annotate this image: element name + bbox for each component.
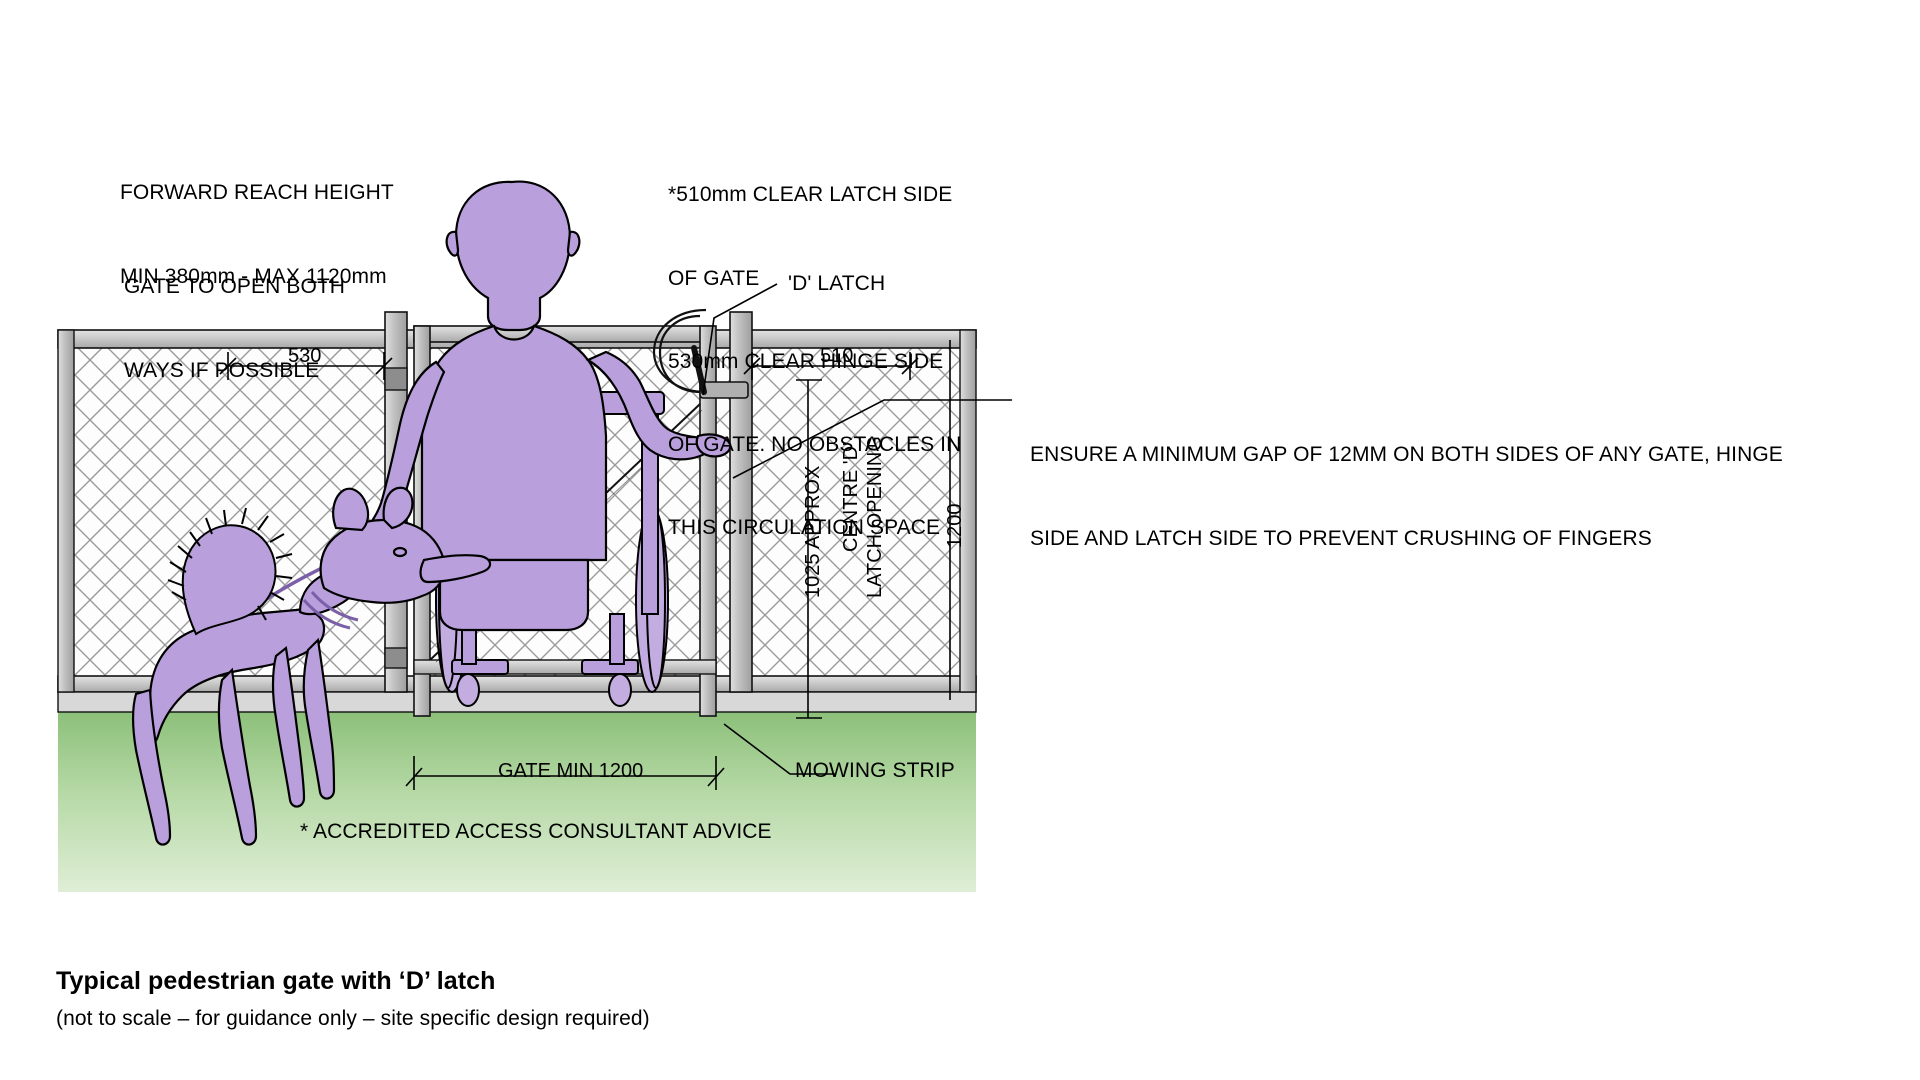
figure-caption-title: Typical pedestrian gate with ‘D’ latch xyxy=(56,965,496,998)
mowing-strip xyxy=(58,692,976,712)
dimension-latch-height: 1025 APPROX xyxy=(800,466,826,598)
annotation-accredited-advice: * ACCREDITED ACCESS CONSULTANT ADVICE xyxy=(300,818,772,846)
grass-ground xyxy=(58,712,976,892)
figure-caption-subtitle: (not to scale – for guidance only – site… xyxy=(56,1005,650,1033)
dimension-latch-side-clear: 510 xyxy=(820,343,853,369)
clear-space-line-3: 530mm CLEAR HINGE SIDE xyxy=(668,348,966,376)
annotation-gate-open: GATE TO OPEN BOTH WAYS IF POSSIBLE xyxy=(124,218,345,440)
dimension-fence-height: 1200 xyxy=(942,504,968,549)
annotation-mowing-strip: MOWING STRIP xyxy=(795,757,955,785)
gap-warning-line-2: SIDE AND LATCH SIDE TO PREVENT CRUSHING … xyxy=(1030,525,1783,553)
annotation-gap-warning: ENSURE A MINIMUM GAP OF 12MM ON BOTH SID… xyxy=(1030,386,1783,608)
fence-post-left-end xyxy=(58,330,74,692)
clear-space-line-4: OF GATE. NO OBSTACLES IN xyxy=(668,431,966,459)
annotation-d-latch: 'D' LATCH xyxy=(788,270,885,298)
gate-open-line-1: GATE TO OPEN BOTH xyxy=(124,273,345,301)
dimension-gate-width: GATE MIN 1200 xyxy=(498,758,643,784)
dimension-latch-opening-label-1: CENTRE 'D' xyxy=(838,442,864,552)
dimension-hinge-side-clear: 530 xyxy=(288,343,321,369)
clear-space-line-1: *510mm CLEAR LATCH SIDE xyxy=(668,181,966,209)
dimension-latch-opening-label-2: LATCH OPENING xyxy=(862,436,888,598)
diagram-page: FORWARD REACH HEIGHT MIN 380mm - MAX 112… xyxy=(0,0,1920,1080)
forward-reach-line-1: FORWARD REACH HEIGHT xyxy=(120,179,394,207)
gap-warning-line-1: ENSURE A MINIMUM GAP OF 12MM ON BOTH SID… xyxy=(1030,441,1783,469)
